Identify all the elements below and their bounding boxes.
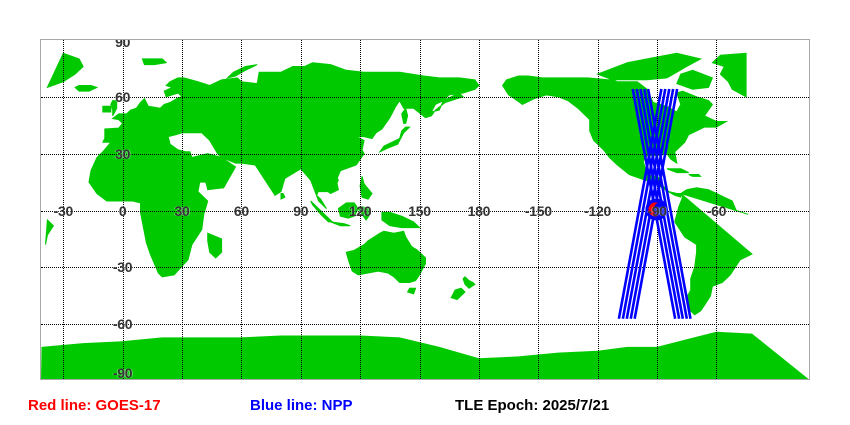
axis-label-lon-60: 60 [234, 204, 249, 218]
axis-label-lon-180: 180 [468, 204, 490, 218]
axis-label-lat-60: 60 [115, 90, 130, 104]
axis-label-lon--150: -150 [525, 204, 552, 218]
axis-label-lon--90: -90 [647, 204, 666, 218]
axis-label-lat--90: -90 [113, 366, 132, 379]
world-map-frame: -300306090120150180-150-120-90-609060300… [40, 39, 810, 380]
axis-label-lon-120: 120 [349, 204, 371, 218]
legend-tle-epoch: TLE Epoch: 2025/7/21 [455, 398, 609, 413]
satellite-track-map-page: -300306090120150180-150-120-90-609060300… [0, 0, 850, 425]
axis-label-lat-0: 0 [119, 204, 127, 218]
axis-label-lon--30: -30 [54, 204, 73, 218]
axis-label-lat-30: 30 [115, 147, 130, 161]
axis-label-lon-90: 90 [293, 204, 308, 218]
legend-red-line-goes17: Red line: GOES-17 [28, 398, 161, 413]
axis-label-lon-150: 150 [408, 204, 430, 218]
axis-label-lon-30: 30 [175, 204, 190, 218]
map-canvas: -300306090120150180-150-120-90-609060300… [41, 40, 809, 379]
map-legend: Red line: GOES-17 Blue line: NPP TLE Epo… [0, 392, 850, 422]
axis-label-lon--60: -60 [707, 204, 726, 218]
axis-label-lat--60: -60 [113, 317, 132, 331]
axis-label-lat--30: -30 [113, 260, 132, 274]
legend-blue-line-npp: Blue line: NPP [250, 398, 353, 413]
axis-label-lat-90: 90 [115, 40, 130, 49]
axis-label-lon--120: -120 [584, 204, 611, 218]
